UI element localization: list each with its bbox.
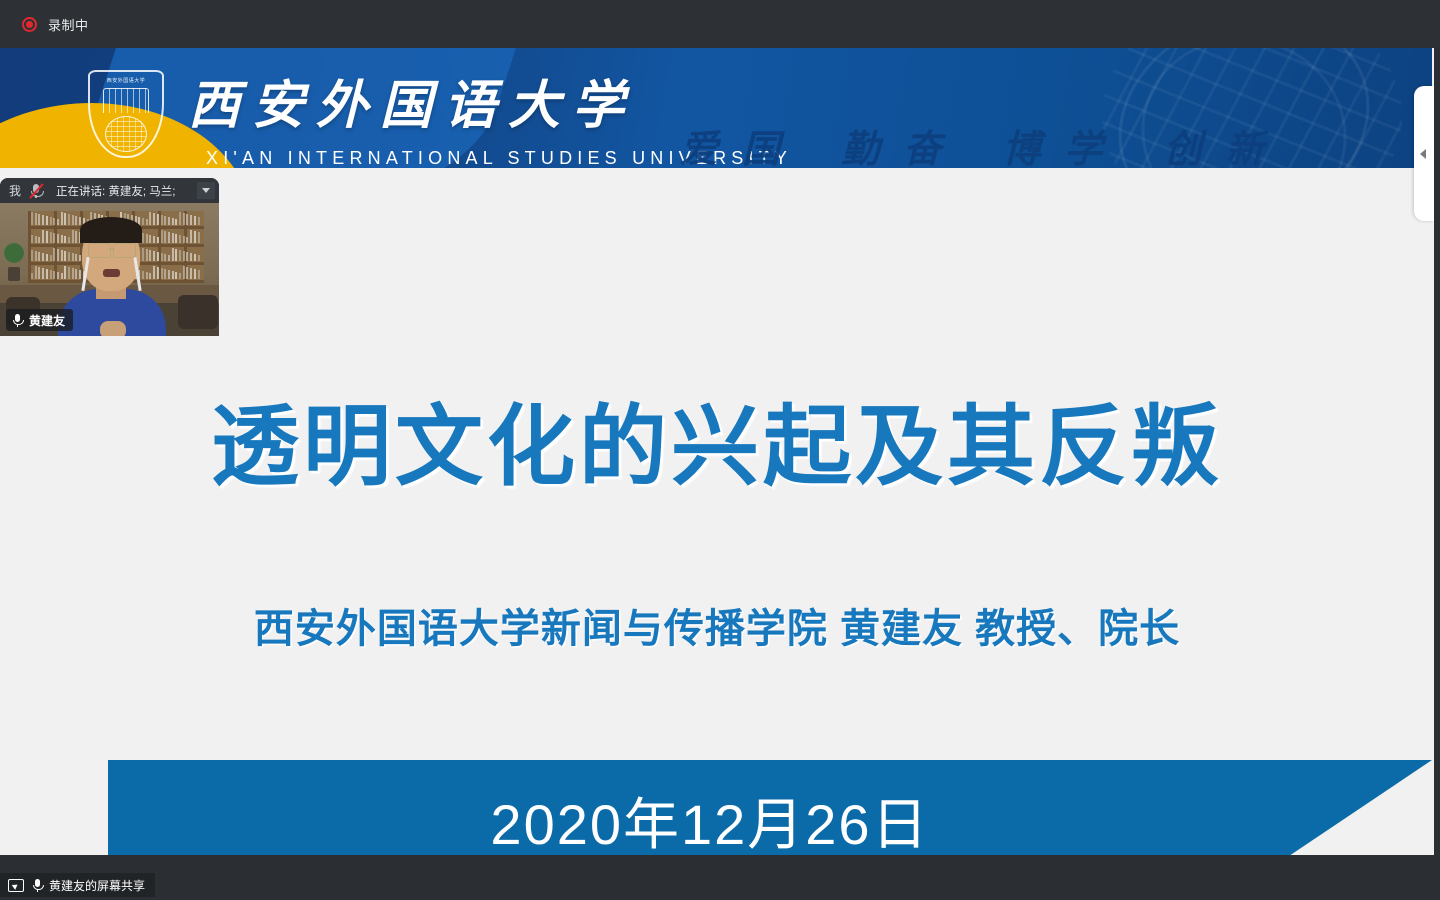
microphone-icon xyxy=(31,878,43,893)
slide-subtitle: 西安外国语大学新闻与传播学院 黄建友 教授、院长 xyxy=(0,596,1434,654)
chevron-left-icon xyxy=(1420,149,1426,159)
slide-date: 2020年12月26日 xyxy=(490,780,929,856)
screen-share-label: 黄建友的屏幕共享 xyxy=(49,877,145,894)
university-banner: 西安外国语大学 西安外国语大学 XI'AN INTERNATIONAL STUD… xyxy=(0,48,1432,168)
shared-screen-area[interactable]: 西安外国语大学 西安外国语大学 XI'AN INTERNATIONAL STUD… xyxy=(0,48,1434,855)
panel-collapse-handle[interactable] xyxy=(1414,86,1434,221)
screen-share-indicator: 黄建友的屏幕共享 xyxy=(0,873,155,897)
video-person-glasses-bridge xyxy=(109,248,113,250)
video-panel-header: 我 正在讲话: 黄建友; 马兰; xyxy=(0,178,219,203)
participant-name: 黄建友 xyxy=(29,312,65,329)
recording-label: 录制中 xyxy=(48,15,89,34)
self-label: 我 xyxy=(9,182,21,199)
crest-globe-shape xyxy=(105,116,147,152)
microphone-muted-icon[interactable] xyxy=(28,183,44,199)
microphone-icon xyxy=(11,313,24,328)
presentation-slide: 西安外国语大学 西安外国语大学 XI'AN INTERNATIONAL STUD… xyxy=(0,48,1434,855)
crest-top-text: 西安外国语大学 xyxy=(107,77,146,84)
video-person-glasses-left xyxy=(88,243,111,258)
slide-date-banner: 2020年12月26日 xyxy=(108,760,1432,855)
participant-video-tile[interactable]: 黄建友 xyxy=(0,203,219,336)
video-person-hair xyxy=(80,217,142,243)
record-dot-icon[interactable] xyxy=(22,17,37,32)
participant-name-badge: 黄建友 xyxy=(6,309,73,331)
recording-top-bar: 录制中 xyxy=(0,0,1440,48)
crest-gate-shape xyxy=(103,88,149,113)
video-plant-pot xyxy=(8,267,20,281)
self-view-video-panel[interactable]: 我 正在讲话: 黄建友; 马兰; 黄建友 xyxy=(0,178,219,336)
university-motto: 爱国 勤奋 博学 创新 xyxy=(680,118,1288,168)
video-person-hand xyxy=(100,321,126,336)
university-name-cn: 西安外国语大学 xyxy=(188,80,636,132)
active-speaker-label: 正在讲话: 黄建友; 马兰; xyxy=(56,183,175,199)
slide-title: 透明文化的兴起及其反叛 xyxy=(0,376,1434,503)
chevron-down-icon[interactable] xyxy=(197,182,215,199)
video-person-glasses-right xyxy=(113,243,136,258)
video-chair-right xyxy=(178,295,218,329)
video-person-mouth xyxy=(103,269,120,277)
screen-share-icon xyxy=(8,879,24,892)
